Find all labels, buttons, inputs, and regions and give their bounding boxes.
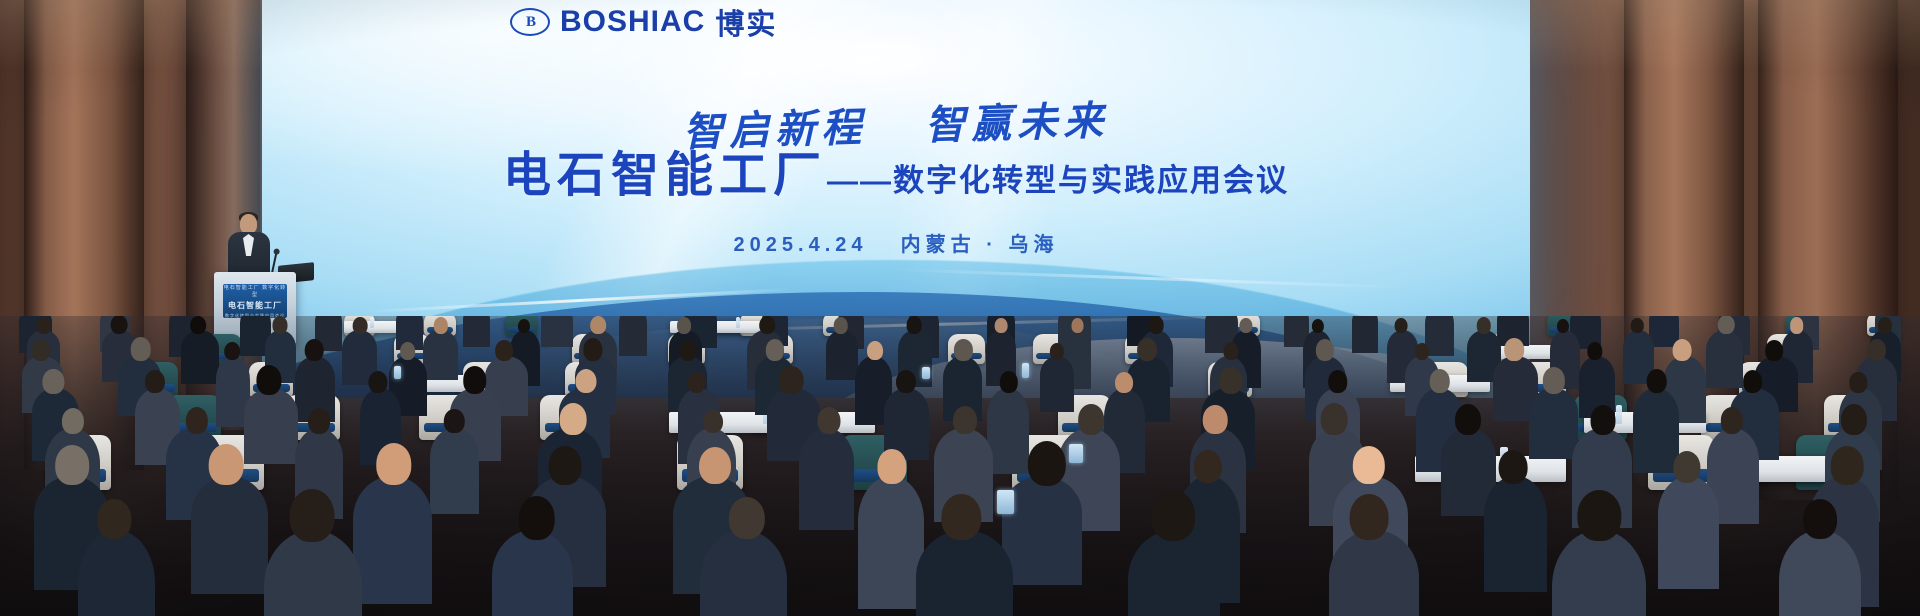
audience-member-head <box>896 370 916 394</box>
audience-member <box>1040 356 1074 412</box>
lectern-sign-line1: 电石智能工厂 数字化转型 <box>223 284 287 298</box>
audience-member-head <box>766 339 784 361</box>
audience-member-head <box>1587 342 1602 360</box>
conference-city: 乌海 <box>1008 234 1058 256</box>
audience-member-head <box>1415 343 1429 359</box>
audience-member <box>541 316 573 347</box>
audience-member-head <box>1721 407 1743 433</box>
audience-member-head <box>575 369 596 394</box>
conference-date-location: 2025.4.24 内蒙古 · 乌海 <box>262 228 1530 257</box>
attendee-phone <box>997 490 1013 513</box>
audience-member-head <box>1790 317 1804 333</box>
audience-member-head <box>256 365 281 395</box>
audience-member-head <box>941 494 980 540</box>
audience-member-head <box>1050 343 1064 360</box>
audience-member-head <box>1803 499 1837 539</box>
audience-member-head <box>1557 319 1569 333</box>
lectern-sign: 电石智能工厂 数字化转型 电石智能工厂 数字化转型与实践应用会议 <box>223 284 287 318</box>
audience-member-head <box>98 499 131 538</box>
brand-wordmark: BOSHIAC <box>560 5 705 39</box>
lectern-sign-line2: 电石智能工厂 <box>228 300 282 311</box>
audience-member <box>353 476 433 604</box>
boshiac-emblem-icon: B <box>510 8 550 36</box>
audience-member-head <box>290 489 335 542</box>
audience-member-head <box>1765 340 1783 361</box>
attendee-phone <box>1069 444 1083 463</box>
audience-member-head <box>1240 318 1253 334</box>
audience-member-head <box>729 497 765 540</box>
audience-member <box>492 530 573 616</box>
audience-member-head <box>1868 339 1886 361</box>
audience-member-head <box>954 339 972 360</box>
audience-member-head <box>273 316 288 334</box>
audience-member-head <box>32 339 51 361</box>
audience-member-head <box>353 317 368 334</box>
audience-member-head <box>145 370 165 394</box>
slogan-part-1: 智启新程 <box>683 105 868 155</box>
conference-region: 内蒙古 <box>901 234 976 256</box>
audience-member-head <box>463 366 487 394</box>
audience-member-head <box>209 444 244 485</box>
audience-member-head <box>584 338 603 361</box>
audience-member <box>244 388 298 464</box>
audience-member-head <box>111 316 128 334</box>
audience-member-head <box>496 340 514 361</box>
audience-member-head <box>1430 369 1451 393</box>
audience-member-head <box>1673 451 1700 483</box>
audience-member <box>423 330 458 380</box>
audience-member-head <box>699 447 731 485</box>
audience-member-head <box>1743 370 1763 393</box>
audience-member-head <box>1718 316 1735 334</box>
conference-photo: B BOSHIAC 博实 智启新程 智赢未来 电石智能工厂 —— 数字化转型与实… <box>0 0 1920 616</box>
audience-member-head <box>1078 404 1104 434</box>
audience-member-head <box>995 318 1008 333</box>
audience-member-head <box>1631 318 1644 333</box>
audience-member-head <box>1578 490 1621 541</box>
audience-member-head <box>1353 446 1385 484</box>
audience-member <box>463 316 491 347</box>
audience-member-head <box>1321 403 1348 435</box>
audience-member-head <box>131 337 151 361</box>
audience-member-head <box>1877 317 1891 334</box>
audience-member-head <box>1152 490 1196 541</box>
audience-member-head <box>62 408 84 434</box>
conference-title-dash: —— <box>827 165 893 200</box>
audience-member-head <box>1149 316 1164 333</box>
audience-member-head <box>1328 370 1348 393</box>
audience-area <box>0 316 1920 616</box>
audience-member-head <box>1455 404 1481 435</box>
audience-member <box>191 476 268 594</box>
audience-member-head <box>867 341 883 360</box>
brand-logo: B BOSHIAC 博实 <box>510 1 777 43</box>
audience-member-head <box>1831 446 1864 485</box>
audience-member <box>1425 316 1454 356</box>
audience-member <box>1658 476 1720 589</box>
audience-member <box>1329 530 1418 616</box>
audience-member-head <box>37 317 52 334</box>
audience-member-head <box>518 319 530 333</box>
audience-member-head <box>55 445 89 485</box>
water-bottle <box>736 317 740 328</box>
audience-member-head <box>1219 367 1242 395</box>
audience-member-head <box>305 339 324 361</box>
audience-member-head <box>1316 339 1334 360</box>
audience-member-head <box>1394 318 1407 333</box>
audience-member-head <box>1350 494 1389 540</box>
audience-member-head <box>1498 450 1527 484</box>
conference-title-main: 电石智能工厂 <box>503 152 827 200</box>
audience-member-head <box>1115 372 1133 393</box>
audience-member-head <box>1841 404 1867 435</box>
brand-chinese-name: 博实 <box>715 1 777 43</box>
audience-member <box>1484 476 1546 592</box>
speaker-head <box>240 214 257 234</box>
audience-member-head <box>779 366 803 395</box>
audience-member-head <box>400 342 416 360</box>
audience-member-head <box>906 316 921 333</box>
audience-member-head <box>518 496 555 539</box>
audience-member-head <box>224 342 240 360</box>
audience-member-head <box>688 372 706 393</box>
audience-member-head <box>1027 441 1065 486</box>
audience-member-head <box>1312 319 1324 333</box>
audience-member-head <box>444 409 464 433</box>
audience-member <box>916 530 1013 616</box>
conference-title-row: 电石智能工厂 —— 数字化转型与实践应用会议 <box>262 152 1530 200</box>
audience-member <box>1706 330 1744 388</box>
audience-member-head <box>1646 369 1667 393</box>
audience-member-head <box>433 317 447 334</box>
attendee-phone <box>394 366 401 379</box>
audience-member-head <box>1850 372 1867 393</box>
audience-member <box>430 428 479 514</box>
audience-member-head <box>376 443 411 485</box>
light-streak <box>896 268 1403 289</box>
audience-member-head <box>1543 367 1565 393</box>
audience-member-head <box>834 317 849 334</box>
audience-member-head <box>43 369 64 394</box>
conference-title-subtitle: 数字化转型与实践应用会议 <box>893 165 1289 200</box>
audience-member <box>799 428 854 530</box>
conference-date: 2025.4.24 <box>734 234 868 256</box>
audience-member-head <box>590 316 606 334</box>
audience-member <box>1529 388 1578 459</box>
audience-member-head <box>1194 450 1222 483</box>
audience-member-head <box>190 316 206 334</box>
audience-member <box>1002 476 1082 585</box>
audience-member-head <box>308 408 330 434</box>
audience-member-head <box>1673 339 1692 361</box>
audience-member <box>858 476 924 609</box>
audience-member <box>619 316 647 356</box>
audience-member-head <box>1590 405 1615 434</box>
audience-member-head <box>548 446 581 485</box>
audience-member-head <box>677 317 691 333</box>
audience-member-head <box>953 406 977 434</box>
audience-member <box>1352 316 1378 353</box>
audience-member-head <box>759 316 775 334</box>
audience-member-head <box>1137 338 1157 361</box>
audience-member-head <box>185 407 207 433</box>
audience-member-head <box>1071 318 1084 333</box>
slogan-part-2: 智赢未来 <box>924 98 1109 148</box>
water-bottle <box>370 317 374 328</box>
audience-member-head <box>368 371 387 393</box>
audience-member-head <box>1000 371 1018 393</box>
audience-member-head <box>1203 405 1228 434</box>
audience-member <box>987 388 1029 474</box>
audience-member-head <box>878 449 907 483</box>
audience-member <box>826 330 858 380</box>
audience-member <box>1633 388 1680 473</box>
slogan-gap <box>883 140 909 141</box>
location-separator: · <box>986 234 998 256</box>
audience-member-head <box>1223 342 1238 360</box>
audience-member-head <box>1504 338 1524 361</box>
audience-member-head <box>703 410 723 434</box>
water-bottle <box>1616 405 1622 424</box>
light-streak <box>364 288 795 314</box>
audience-member-head <box>817 407 840 434</box>
audience-member-head <box>560 403 587 435</box>
audience-member <box>181 330 219 384</box>
audience-member-head <box>1477 317 1491 334</box>
attendee-phone <box>1022 363 1029 378</box>
audience-member-head <box>679 340 696 360</box>
attendee-phone <box>922 367 930 379</box>
